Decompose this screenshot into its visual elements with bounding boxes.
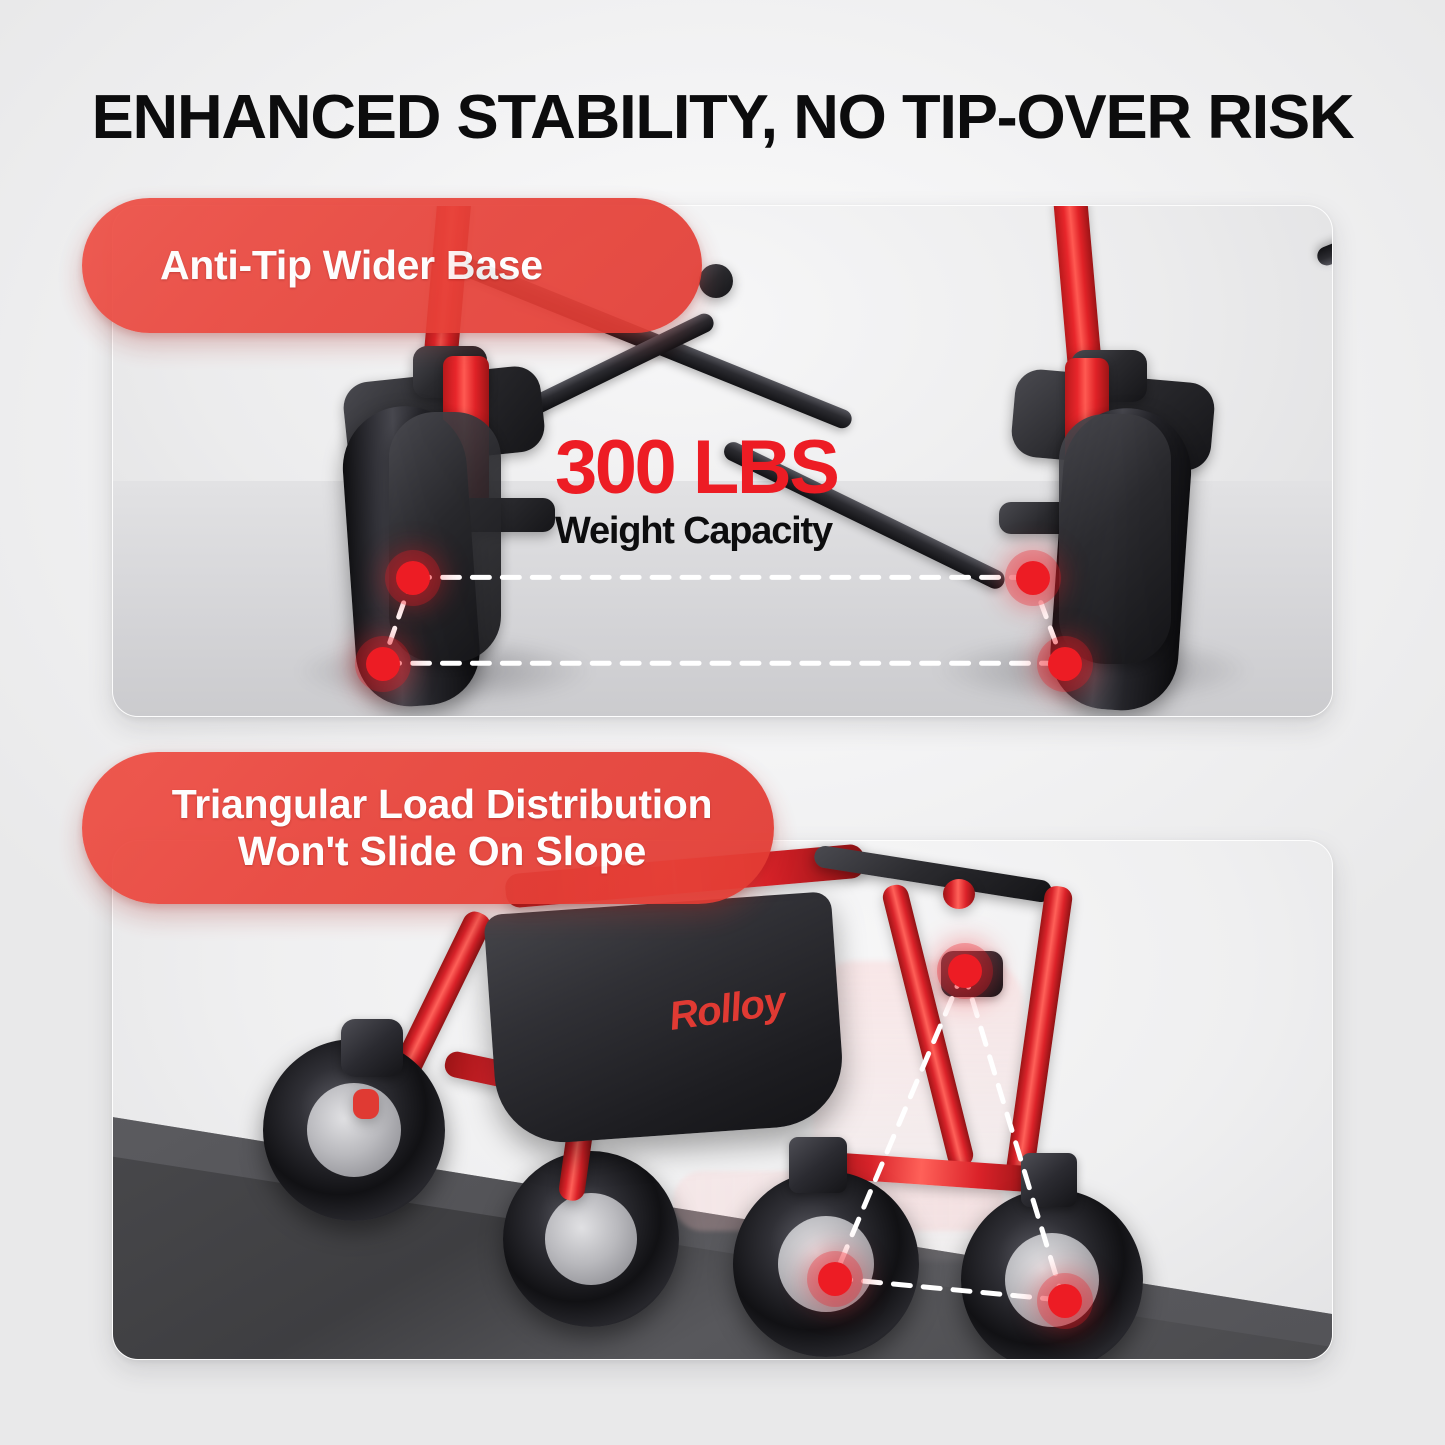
infographic-page: ENHANCED STABILITY, NO TIP-OVER RISK — [0, 0, 1445, 1445]
contact-marker-4 — [1048, 647, 1082, 681]
badge-triangular-load: Triangular Load Distribution Won't Slide… — [82, 752, 774, 904]
fender-right — [1059, 414, 1171, 664]
contact-marker-3 — [366, 647, 400, 681]
feature-card-triangular-load: Rolloy — [112, 840, 1333, 1360]
badge-triangular-label-line1: Triangular Load Distribution — [172, 781, 713, 828]
badge-anti-tip-label: Anti-Tip Wider Base — [160, 242, 543, 289]
badge-anti-tip-wider-base: Anti-Tip Wider Base — [82, 198, 702, 333]
wheel-mid — [503, 1151, 679, 1327]
product-photo-walker-on-slope: Rolloy — [113, 841, 1332, 1359]
badge-triangular-label-line2: Won't Slide On Slope — [238, 828, 646, 875]
weight-capacity-label: Weight Capacity — [555, 510, 837, 553]
load-marker-apex — [948, 954, 982, 988]
weight-capacity-callout: 300 LBS Weight Capacity — [555, 432, 837, 553]
wheel-mount-front-right — [789, 1137, 847, 1193]
quick-release-left — [353, 1089, 379, 1119]
load-marker-rear — [1048, 1284, 1082, 1318]
release-button — [943, 879, 975, 909]
wheel-mount-rear-right — [1021, 1153, 1077, 1207]
crossbar-upper-right — [1314, 205, 1333, 268]
crossbar-pivot — [699, 264, 733, 298]
storage-bag — [483, 891, 846, 1147]
wheel-rear-right — [961, 1189, 1143, 1360]
fender-left — [389, 412, 501, 662]
contact-marker-1 — [396, 561, 430, 595]
contact-marker-2 — [1016, 561, 1050, 595]
page-title: ENHANCED STABILITY, NO TIP-OVER RISK — [0, 82, 1445, 153]
load-marker-front — [818, 1262, 852, 1296]
wheel-mount-rear-left — [341, 1019, 403, 1077]
weight-capacity-value: 300 LBS — [555, 432, 837, 504]
